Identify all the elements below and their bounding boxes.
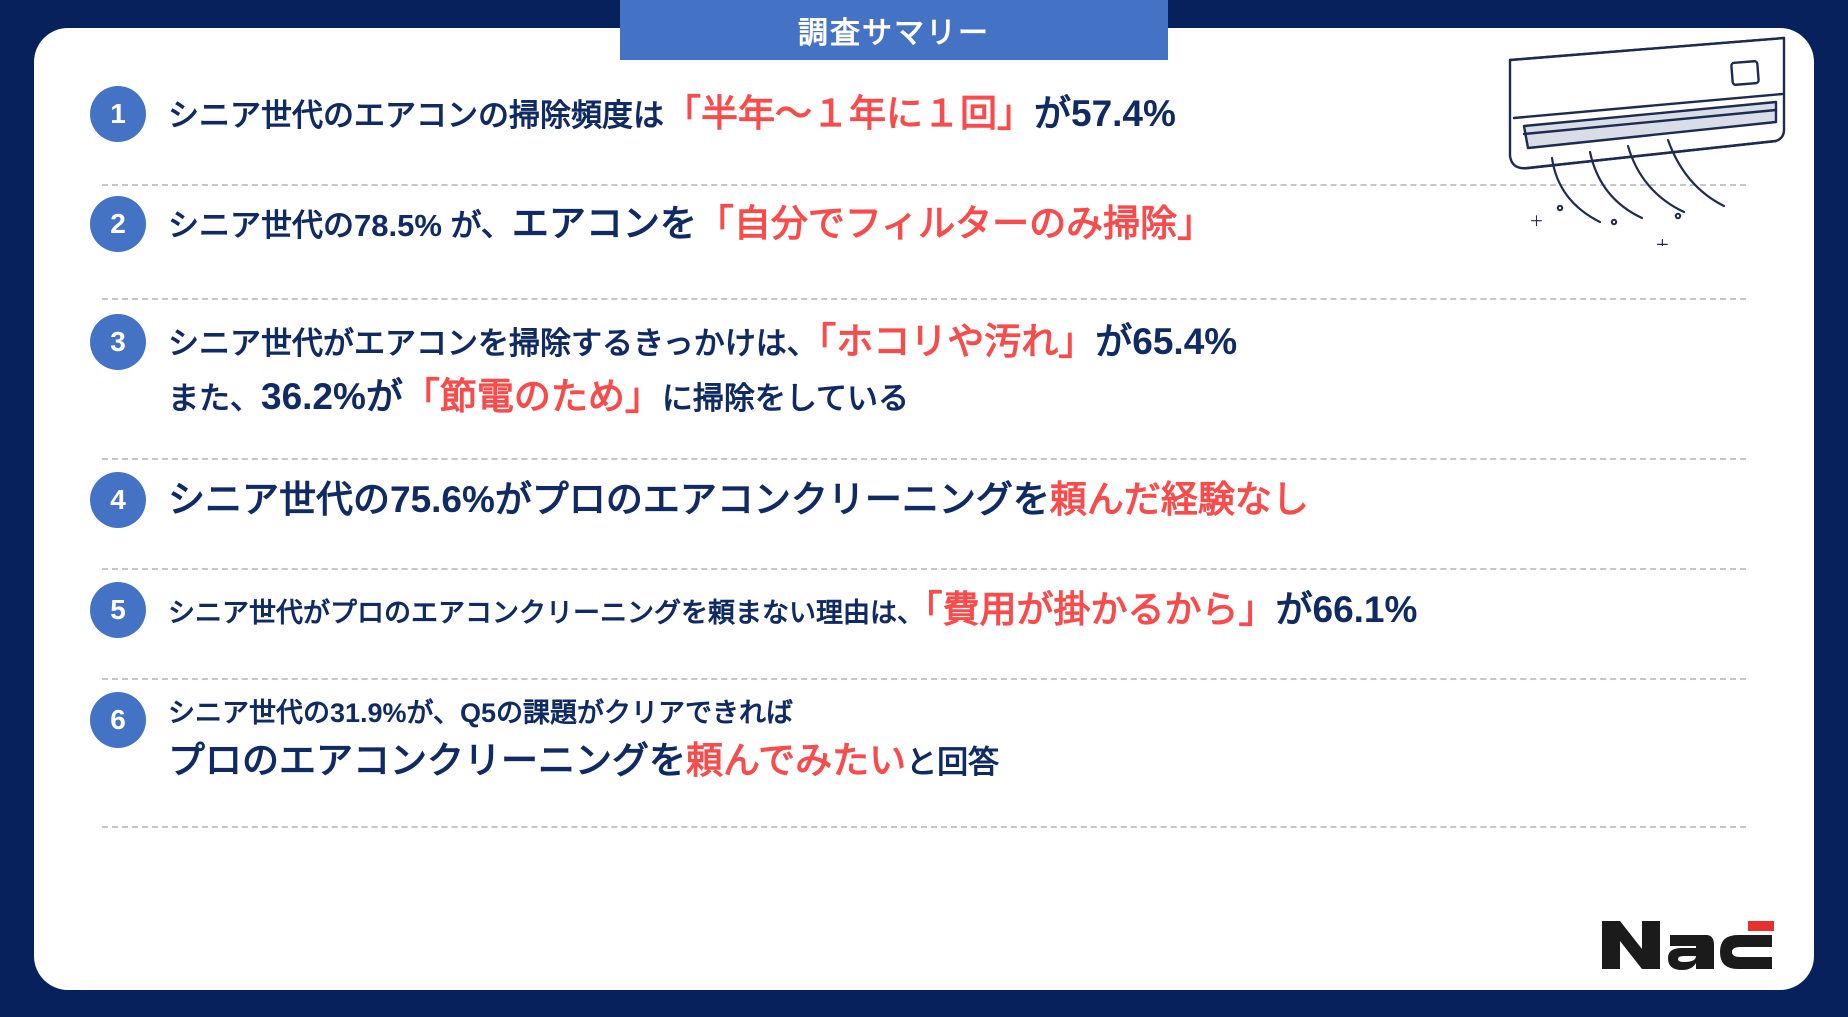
text-segment: シニア世代のエアコンの掃除頻度は: [168, 98, 664, 133]
text-segment: に掃除をしている: [662, 381, 909, 416]
row-line: また、36.2%が「節電のため」に掃除をしている: [168, 373, 1758, 422]
stat-segment: が65.4%: [1095, 321, 1237, 362]
highlight-segment: 「半年～１年に１回」: [664, 93, 1034, 134]
row-text-5: シニア世代がプロのエアコンクリーニングを頼まない理由は、「費用が掛かるから」が6…: [168, 582, 1758, 635]
row-number-badge-1: 1: [90, 86, 146, 142]
summary-row-4: 4 シニア世代の75.6%がプロのエアコンクリーニングを頼んだ経験なし: [90, 472, 1758, 528]
emphasis-segment: エアコンを: [512, 203, 697, 244]
text-segment: シニア世代の78.5% が、: [168, 208, 512, 243]
row-number-badge-5: 5: [90, 582, 146, 638]
row-line: シニア世代の75.6%がプロのエアコンクリーニングを頼んだ経験なし: [168, 476, 1758, 525]
row-number-badge-3: 3: [90, 314, 146, 370]
stat-segment: が66.1%: [1276, 589, 1418, 630]
emphasis-segment: プロのエアコンクリーニングを: [168, 740, 686, 781]
row-number-badge-4: 4: [90, 472, 146, 528]
row-text-4: シニア世代の75.6%がプロのエアコンクリーニングを頼んだ経験なし: [168, 472, 1758, 525]
stat-segment: 36.2%が: [261, 376, 403, 417]
row-line: シニア世代がプロのエアコンクリーニングを頼まない理由は、「費用が掛かるから」が6…: [168, 586, 1758, 635]
survey-summary-banner: 調査サマリー: [620, 0, 1168, 60]
highlight-segment: 「自分でフィルターのみ掃除」: [697, 203, 1214, 244]
highlight-segment: 頼んでみたい: [686, 740, 906, 781]
summary-row-6: 6 シニア世代の31.9%が、Q5の課題がクリアできれば プロのエアコンクリーニ…: [90, 692, 1758, 786]
row-divider: [102, 568, 1746, 570]
row-divider: [102, 458, 1746, 460]
poster-root: 調査サマリー: [0, 0, 1848, 1017]
row-text-3: シニア世代がエアコンを掃除するきっかけは、「ホコリや汚れ」が65.4% また、3…: [168, 314, 1758, 422]
highlight-segment: 頼んだ経験なし: [1050, 479, 1309, 520]
highlight-segment: 「節電のため」: [403, 376, 662, 417]
row-divider: [102, 678, 1746, 680]
highlight-segment: 「ホコリや汚れ」: [818, 321, 1096, 362]
text-segment: シニア世代がエアコンを掃除するきっかけは、: [168, 326, 818, 361]
air-conditioner-illustration: [1432, 26, 1792, 246]
summary-row-5: 5 シニア世代がプロのエアコンクリーニングを頼まない理由は、「費用が掛かるから」…: [90, 582, 1758, 638]
row-divider: [102, 826, 1746, 828]
highlight-segment: 「費用が掛かるから」: [924, 589, 1276, 630]
page-title: 調査サマリー: [798, 8, 990, 52]
stat-segment: が57.4%: [1034, 93, 1176, 134]
row-number-badge-6: 6: [90, 692, 146, 748]
text-segment: シニア世代がプロのエアコンクリーニングを頼まない理由は、: [168, 598, 924, 628]
summary-row-3: 3 シニア世代がエアコンを掃除するきっかけは、「ホコリや汚れ」が65.4% また…: [90, 314, 1758, 422]
row-line: シニア世代がエアコンを掃除するきっかけは、「ホコリや汚れ」が65.4%: [168, 318, 1758, 367]
row-divider: [102, 298, 1746, 300]
text-segment: と回答: [906, 745, 999, 780]
row-text-6: シニア世代の31.9%が、Q5の課題がクリアできれば プロのエアコンクリーニング…: [168, 692, 1758, 786]
nac-logo: [1598, 915, 1778, 973]
row-number-badge-2: 2: [90, 196, 146, 252]
text-segment: また、: [168, 381, 261, 416]
row-line: シニア世代の31.9%が、Q5の課題がクリアできれば: [168, 696, 1758, 732]
text-segment: シニア世代の75.6%がプロのエアコンクリーニングを: [168, 479, 1050, 520]
text-segment: シニア世代の31.9%が、Q5の課題がクリアできれば: [168, 698, 793, 728]
row-line: プロのエアコンクリーニングを頼んでみたいと回答: [168, 737, 1758, 786]
